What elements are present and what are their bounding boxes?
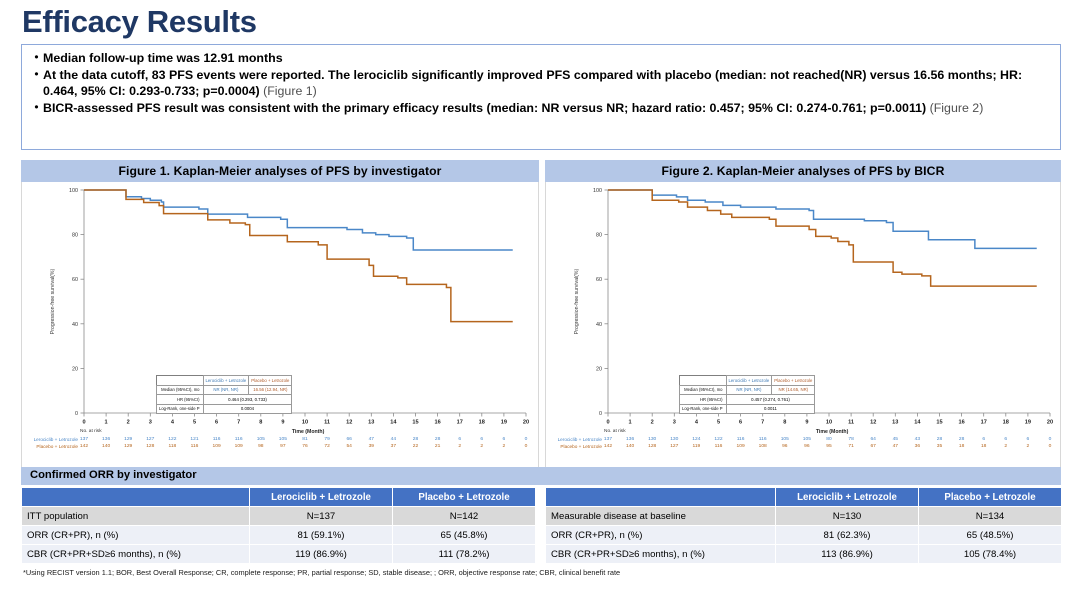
inset-median-blue: NR (NR, NR) — [726, 385, 772, 395]
risk-count-cell: 37 — [386, 444, 400, 449]
col-header-placebo: Placebo + Letrozole — [919, 488, 1062, 507]
risk-count-cell: 0 — [1043, 437, 1057, 442]
risk-count-cell: 140 — [99, 444, 113, 449]
row-value-placebo: N=142 — [393, 507, 536, 526]
x-tick-label: 17 — [457, 420, 463, 426]
risk-count-cell: 96 — [778, 444, 792, 449]
risk-count-cell: 6 — [977, 437, 991, 442]
risk-count-cell: 118 — [165, 444, 179, 449]
risk-count-cell: 2 — [497, 444, 511, 449]
row-label: ORR (CR+PR), n (%) — [546, 526, 776, 545]
row-value-placebo: 65 (45.8%) — [393, 526, 536, 545]
table-row: CBR (CR+PR+SD≥6 months), n (%) 119 (86.9… — [22, 545, 536, 564]
inset-row-hr-label: HR (95%CI) — [680, 395, 727, 405]
inset-hr-value: 0.464 (0.293, 0.733) — [203, 395, 292, 405]
inset-col-blue: Lerociclib + Letrozole — [726, 376, 772, 386]
inset-row-hr-label: HR (95%CI) — [157, 395, 204, 405]
x-tick-label: 8 — [783, 420, 786, 426]
x-tick-label: 19 — [1025, 420, 1031, 426]
risk-count-cell: 96 — [800, 444, 814, 449]
inset-corner-cell — [157, 376, 204, 386]
risk-count-cell: 122 — [712, 437, 726, 442]
x-tick-label: 18 — [1003, 420, 1009, 426]
risk-count-cell: 44 — [386, 437, 400, 442]
y-axis-title: Progression-free survival(%) — [574, 269, 580, 335]
bullet-marker-icon: • — [30, 50, 43, 65]
row-value-lerociclib: N=130 — [776, 507, 919, 526]
risk-count-cell: 124 — [689, 437, 703, 442]
x-tick-label: 13 — [892, 420, 898, 426]
row-label: ITT population — [22, 507, 250, 526]
x-tick-label: 5 — [193, 420, 196, 426]
y-axis-title: Progression-free survival(%) — [50, 269, 56, 335]
x-tick-label: 9 — [281, 420, 284, 426]
risk-count-cell: 136 — [99, 437, 113, 442]
x-tick-label: 6 — [739, 420, 742, 426]
x-tick-label: 4 — [695, 420, 699, 426]
y-tick-label: 80 — [596, 233, 602, 239]
orr-table-left: Lerociclib + Letrozole Placebo + Letrozo… — [21, 487, 536, 564]
risk-count-cell: 2 — [999, 444, 1013, 449]
table-header-row: Lerociclib + Letrozole Placebo + Letrozo… — [546, 488, 1062, 507]
inset-row-median-label: Median (95%CI), mo — [157, 385, 204, 395]
risk-count-cell: 18 — [955, 444, 969, 449]
row-label: CBR (CR+PR+SD≥6 months), n (%) — [546, 545, 776, 564]
x-tick-label: 18 — [479, 420, 485, 426]
risk-count-cell: 116 — [734, 437, 748, 442]
x-tick-label: 7 — [761, 420, 764, 426]
y-tick-label: 0 — [75, 411, 78, 417]
risk-count-cell: 6 — [1021, 437, 1035, 442]
risk-count-cell: 122 — [165, 437, 179, 442]
risk-count-cell: 128 — [645, 444, 659, 449]
figure-2-header: Figure 2. Kaplan-Meier analyses of PFS b… — [545, 160, 1061, 182]
x-tick-label: 17 — [981, 420, 987, 426]
table-row: CBR (CR+PR+SD≥6 months), n (%) 113 (86.9… — [546, 545, 1062, 564]
figure-1-inset-stats-table: Lerociclib + Letrozole Placebo + Letrozo… — [156, 375, 292, 414]
risk-count-cell: 142 — [601, 444, 615, 449]
risk-count-cell: 116 — [712, 444, 726, 449]
row-value-lerociclib: 113 (86.9%) — [776, 545, 919, 564]
risk-count-cell: 66 — [342, 437, 356, 442]
bullet-marker-icon: • — [30, 100, 43, 115]
col-header-blank — [546, 488, 776, 507]
risk-count-cell: 28 — [409, 437, 423, 442]
x-tick-label: 8 — [259, 420, 262, 426]
risk-count-cell: 129 — [121, 437, 135, 442]
x-tick-label: 4 — [171, 420, 175, 426]
table-header-row: Lerociclib + Letrozole Placebo + Letrozo… — [22, 488, 536, 507]
risk-count-cell: 0 — [519, 444, 533, 449]
risk-count-cell: 36 — [910, 444, 924, 449]
risk-count-cell: 140 — [623, 444, 637, 449]
x-tick-label: 11 — [324, 420, 330, 426]
risk-row-label: Placebo + Letrozole — [546, 444, 602, 449]
y-tick-label: 60 — [72, 277, 78, 283]
risk-count-cell: 136 — [623, 437, 637, 442]
risk-count-cell: 39 — [364, 444, 378, 449]
risk-count-cell: 97 — [276, 444, 290, 449]
figure-1-panel: Figure 1. Kaplan-Meier analyses of PFS b… — [21, 160, 539, 485]
y-tick-label: 100 — [593, 188, 602, 194]
risk-count-cell: 2 — [475, 444, 489, 449]
risk-count-cell: 6 — [999, 437, 1013, 442]
x-axis-title: Time (Month) — [816, 429, 848, 435]
row-value-lerociclib: 119 (86.9%) — [250, 545, 393, 564]
y-tick-label: 100 — [69, 188, 78, 194]
x-tick-label: 11 — [848, 420, 854, 426]
risk-count-cell: 2 — [453, 444, 467, 449]
inset-col-brown: Placebo + Letrozole — [249, 376, 292, 386]
table-row: ORR (CR+PR), n (%) 81 (59.1%) 65 (45.8%) — [22, 526, 536, 545]
risk-count-cell: 127 — [667, 444, 681, 449]
inset-row-p-label: Log-Rank, one-side P — [680, 404, 727, 414]
risk-count-cell: 35 — [933, 444, 947, 449]
y-tick-label: 20 — [72, 366, 78, 372]
risk-count-cell: 6 — [497, 437, 511, 442]
x-axis-title: Time (Month) — [292, 429, 324, 435]
inset-col-blue: Lerociclib + Letrozole — [203, 376, 249, 386]
x-tick-label: 20 — [523, 420, 529, 426]
risk-count-cell: 28 — [431, 437, 445, 442]
risk-count-cell: 130 — [667, 437, 681, 442]
risk-count-cell: 21 — [431, 444, 445, 449]
risk-count-cell: 72 — [320, 444, 334, 449]
x-tick-label: 14 — [390, 420, 397, 426]
risk-count-cell: 119 — [689, 444, 703, 449]
x-tick-label: 12 — [346, 420, 352, 426]
risk-count-cell: 76 — [298, 444, 312, 449]
x-tick-label: 14 — [914, 420, 921, 426]
row-value-lerociclib: N=137 — [250, 507, 393, 526]
risk-count-cell: 47 — [888, 444, 902, 449]
x-tick-label: 7 — [237, 420, 240, 426]
risk-count-cell: 137 — [601, 437, 615, 442]
risk-count-cell: 116 — [232, 437, 246, 442]
x-tick-label: 9 — [805, 420, 808, 426]
risk-count-cell: 137 — [77, 437, 91, 442]
risk-count-cell: 6 — [475, 437, 489, 442]
bullet-text: Median follow-up time was 12.91 months — [43, 50, 1052, 66]
km-curve-placebo — [608, 190, 1037, 286]
x-tick-label: 0 — [606, 420, 609, 426]
row-value-lerociclib: 81 (59.1%) — [250, 526, 393, 545]
risk-count-cell: 79 — [320, 437, 334, 442]
x-tick-label: 1 — [629, 420, 632, 426]
x-tick-label: 12 — [870, 420, 876, 426]
inset-p-value: 0.0011 — [726, 404, 815, 414]
y-tick-label: 20 — [596, 366, 602, 372]
risk-row-label: Lerociclib + Letrozole — [546, 437, 602, 442]
table-row: Measurable disease at baseline N=130 N=1… — [546, 507, 1062, 526]
risk-count-cell: 130 — [645, 437, 659, 442]
x-tick-label: 3 — [673, 420, 676, 426]
row-value-placebo: 105 (78.4%) — [919, 545, 1062, 564]
bullet-text: At the data cutoff, 83 PFS events were r… — [43, 67, 1052, 99]
risk-count-cell: 127 — [143, 437, 157, 442]
col-header-placebo: Placebo + Letrozole — [393, 488, 536, 507]
x-tick-label: 0 — [82, 420, 85, 426]
inset-corner-cell — [680, 376, 727, 386]
x-tick-label: 15 — [936, 420, 942, 426]
risk-count-cell: 64 — [866, 437, 880, 442]
risk-count-cell: 105 — [800, 437, 814, 442]
risk-count-cell: 109 — [734, 444, 748, 449]
figure-2-inset-stats-table: Lerociclib + Letrozole Placebo + Letrozo… — [679, 375, 815, 414]
y-tick-label: 80 — [72, 233, 78, 239]
summary-bullet-box: • Median follow-up time was 12.91 months… — [21, 44, 1061, 150]
risk-count-cell: 6 — [453, 437, 467, 442]
risk-count-cell: 105 — [276, 437, 290, 442]
row-value-lerociclib: 81 (62.3%) — [776, 526, 919, 545]
risk-count-cell: 0 — [519, 437, 533, 442]
col-header-lerociclib: Lerociclib + Letrozole — [776, 488, 919, 507]
figure-2-panel: Figure 2. Kaplan-Meier analyses of PFS b… — [545, 160, 1061, 485]
row-label: Measurable disease at baseline — [546, 507, 776, 526]
x-tick-label: 5 — [717, 420, 720, 426]
inset-median-brown: 16.56 (12.94, NR) — [249, 385, 292, 395]
risk-count-cell: 22 — [409, 444, 423, 449]
risk-count-cell: 67 — [866, 444, 880, 449]
footnote: *Using RECIST version 1.1; BOR, Best Ove… — [23, 568, 620, 577]
risk-count-cell: 45 — [888, 437, 902, 442]
slide-root: Efficacy Results • Median follow-up time… — [0, 0, 1080, 594]
risk-count-cell: 128 — [143, 444, 157, 449]
x-tick-label: 6 — [215, 420, 218, 426]
risk-count-cell: 95 — [822, 444, 836, 449]
risk-count-cell: 109 — [210, 444, 224, 449]
bullet-item: • At the data cutoff, 83 PFS events were… — [30, 67, 1052, 99]
risk-count-cell: 81 — [298, 437, 312, 442]
bullet-item: • Median follow-up time was 12.91 months — [30, 50, 1052, 66]
x-tick-label: 2 — [651, 420, 654, 426]
orr-section-header: Confirmed ORR by investigator — [21, 467, 1061, 485]
risk-row-label: Placebo + Letrozole — [22, 444, 78, 449]
x-tick-label: 19 — [501, 420, 507, 426]
inset-median-blue: NR (NR, NR) — [203, 385, 249, 395]
risk-table-title: No. at risk — [604, 429, 626, 434]
inset-hr-value: 0.457 (0.274, 0.761) — [726, 395, 815, 405]
row-value-placebo: 65 (48.5%) — [919, 526, 1062, 545]
risk-count-cell: 18 — [977, 444, 991, 449]
x-tick-label: 15 — [412, 420, 418, 426]
risk-count-cell: 28 — [933, 437, 947, 442]
risk-count-cell: 105 — [254, 437, 268, 442]
risk-count-cell: 54 — [342, 444, 356, 449]
table-row: ITT population N=137 N=142 — [22, 507, 536, 526]
x-tick-label: 3 — [149, 420, 152, 426]
row-label: ORR (CR+PR), n (%) — [22, 526, 250, 545]
risk-count-cell: 121 — [188, 437, 202, 442]
bullet-marker-icon: • — [30, 67, 43, 82]
x-tick-label: 16 — [958, 420, 964, 426]
x-tick-label: 16 — [434, 420, 440, 426]
x-tick-label: 2 — [127, 420, 130, 426]
risk-count-cell: 116 — [756, 437, 770, 442]
risk-count-cell: 71 — [844, 444, 858, 449]
inset-median-brown: NR (14.65, NR) — [772, 385, 815, 395]
risk-count-cell: 80 — [822, 437, 836, 442]
risk-count-cell: 47 — [364, 437, 378, 442]
orr-table-right: Lerociclib + Letrozole Placebo + Letrozo… — [545, 487, 1062, 564]
risk-count-cell: 142 — [77, 444, 91, 449]
figure-1-body: 0204060801000123456789101112131415161718… — [21, 182, 539, 485]
risk-count-cell: 43 — [910, 437, 924, 442]
figure-2-body: 0204060801000123456789101112131415161718… — [545, 182, 1061, 485]
y-tick-label: 60 — [596, 277, 602, 283]
figure-1-header: Figure 1. Kaplan-Meier analyses of PFS b… — [21, 160, 539, 182]
page-title: Efficacy Results — [22, 4, 257, 40]
risk-count-cell: 0 — [1043, 444, 1057, 449]
col-header-lerociclib: Lerociclib + Letrozole — [250, 488, 393, 507]
inset-row-p-label: Log-Rank, one-side P — [157, 404, 204, 414]
risk-count-cell: 109 — [232, 444, 246, 449]
risk-count-cell: 116 — [188, 444, 202, 449]
inset-col-brown: Placebo + Letrozole — [772, 376, 815, 386]
risk-count-cell: 98 — [254, 444, 268, 449]
bullet-item: • BICR-assessed PFS result was consisten… — [30, 100, 1052, 116]
x-tick-label: 10 — [826, 420, 832, 426]
risk-count-cell: 105 — [778, 437, 792, 442]
x-tick-label: 13 — [368, 420, 374, 426]
inset-row-median-label: Median (95%CI), mo — [680, 385, 727, 395]
risk-row-label: Lerociclib + Letrozole — [22, 437, 78, 442]
risk-count-cell: 108 — [756, 444, 770, 449]
y-tick-label: 0 — [599, 411, 602, 417]
risk-count-cell: 116 — [210, 437, 224, 442]
y-tick-label: 40 — [596, 322, 602, 328]
row-value-placebo: 111 (78.2%) — [393, 545, 536, 564]
x-tick-label: 20 — [1047, 420, 1053, 426]
km-curve-lerociclib — [608, 190, 1037, 248]
km-curve-placebo — [84, 190, 513, 322]
x-tick-label: 10 — [302, 420, 308, 426]
y-tick-label: 40 — [72, 322, 78, 328]
risk-count-cell: 129 — [121, 444, 135, 449]
inset-p-value: 0.0004 — [203, 404, 292, 414]
col-header-blank — [22, 488, 250, 507]
risk-count-cell: 28 — [955, 437, 969, 442]
bullet-text: BICR-assessed PFS result was consistent … — [43, 100, 1052, 116]
risk-count-cell: 2 — [1021, 444, 1035, 449]
row-value-placebo: N=134 — [919, 507, 1062, 526]
row-label: CBR (CR+PR+SD≥6 months), n (%) — [22, 545, 250, 564]
table-row: ORR (CR+PR), n (%) 81 (62.3%) 65 (48.5%) — [546, 526, 1062, 545]
risk-table-title: No. at risk — [80, 429, 102, 434]
risk-count-cell: 78 — [844, 437, 858, 442]
x-tick-label: 1 — [105, 420, 108, 426]
